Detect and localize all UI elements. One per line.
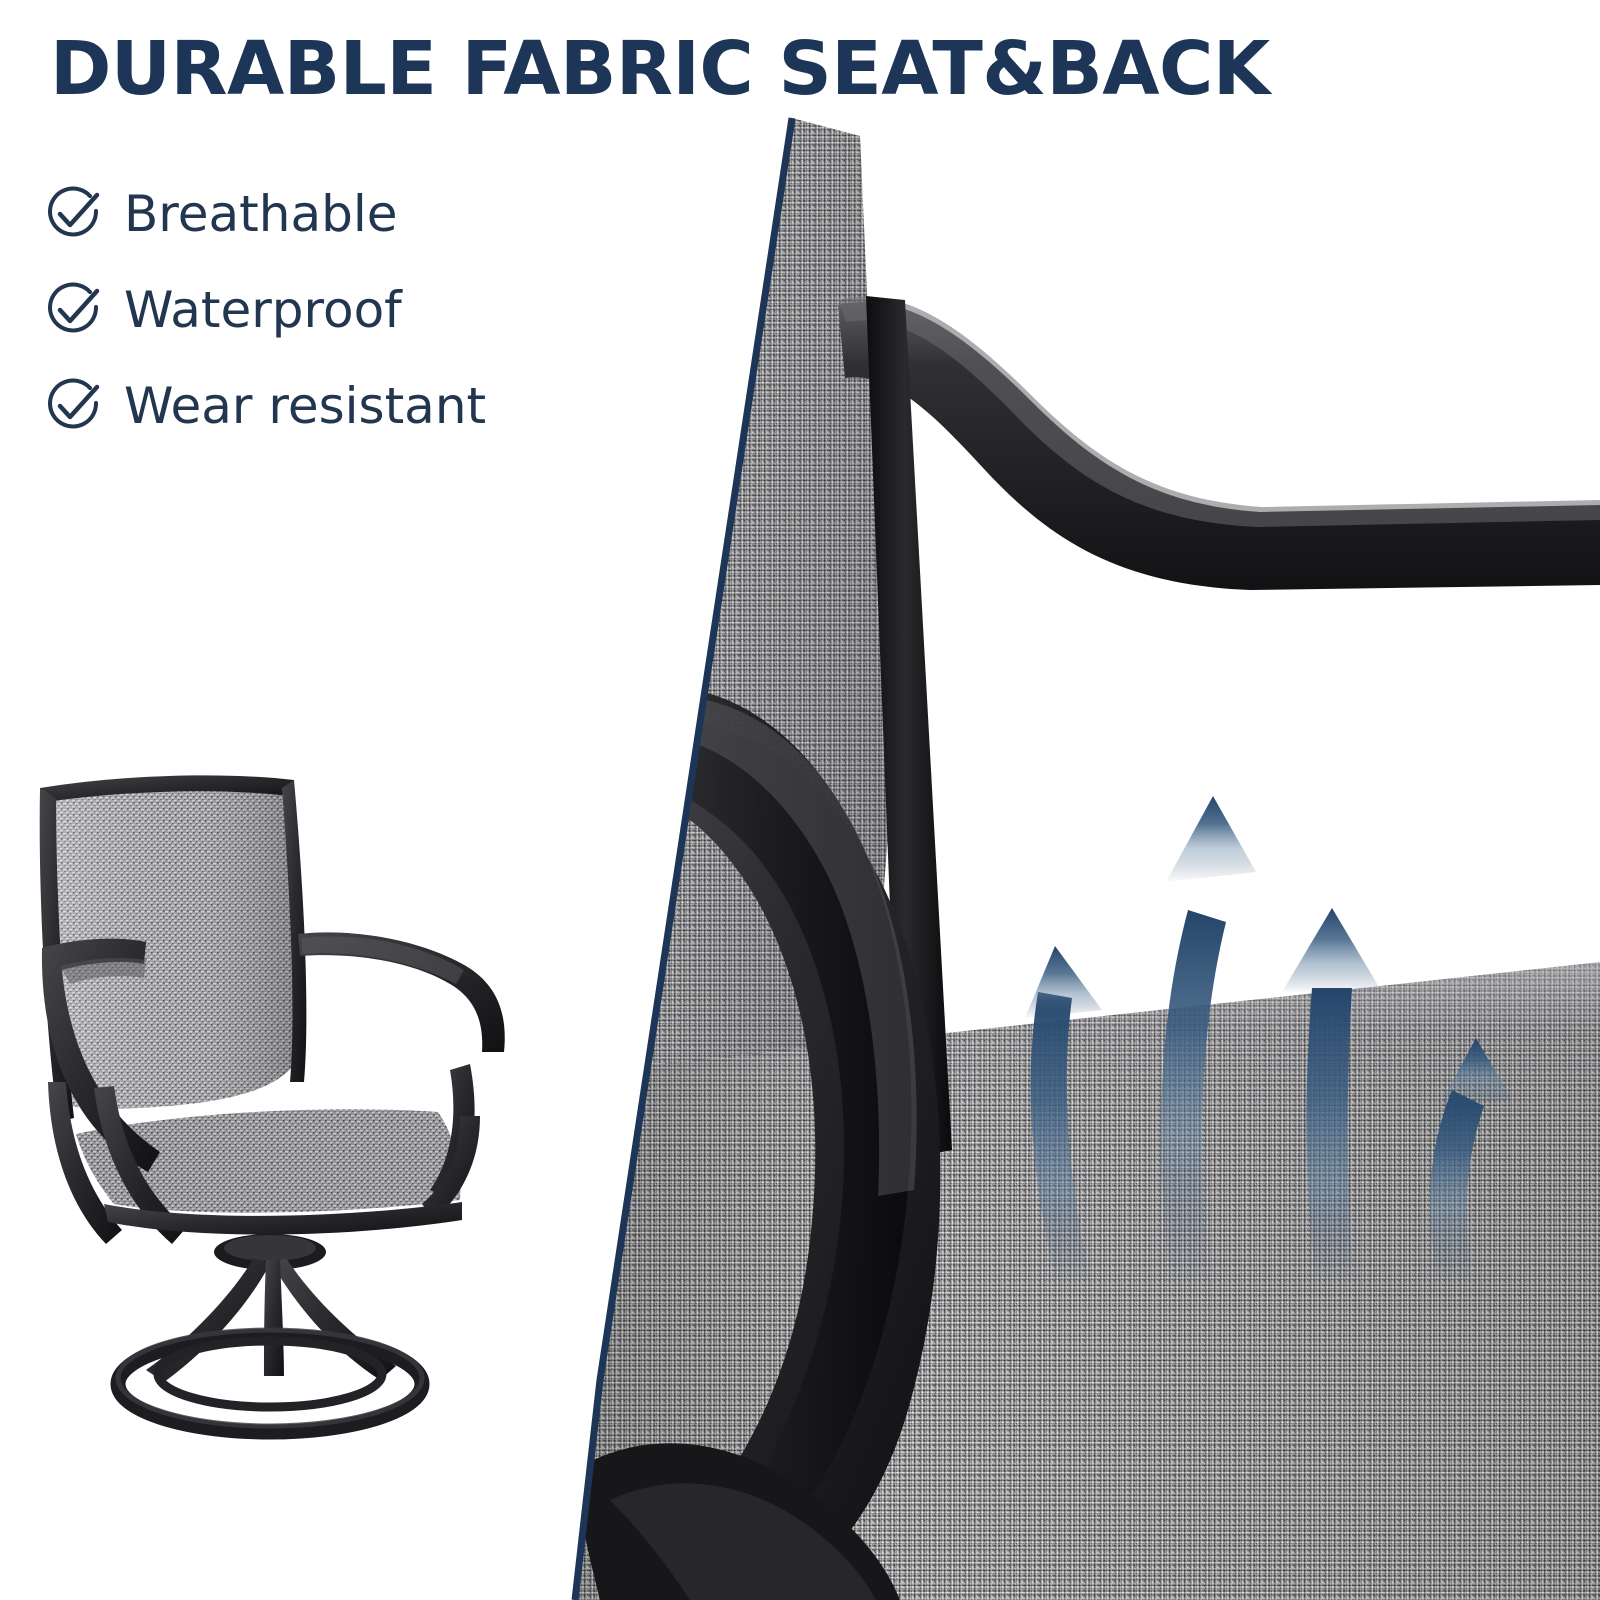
check-circle-icon: [42, 279, 104, 341]
feature-list: Breathable Waterproof Wear resistant: [42, 166, 582, 454]
feature-item-breathable: Breathable: [42, 166, 582, 262]
feature-label: Wear resistant: [124, 377, 486, 435]
page-title: DURABLE FABRIC SEAT&BACK: [50, 32, 1350, 106]
airflow-arrow-3: [1282, 908, 1382, 1280]
feature-item-wear-resistant: Wear resistant: [42, 358, 582, 454]
product-chair-image: [18, 752, 538, 1452]
feature-item-waterproof: Waterproof: [42, 262, 582, 358]
swivel-hub-top: [224, 1235, 316, 1261]
airflow-arrows: [960, 760, 1560, 1280]
check-circle-icon: [42, 375, 104, 437]
check-circle-icon: [42, 183, 104, 245]
feature-label: Breathable: [124, 185, 398, 243]
feature-label: Waterproof: [124, 281, 402, 339]
airflow-arrow-2: [1161, 796, 1256, 1280]
airflow-arrow-4: [1430, 1038, 1512, 1280]
airflow-arrow-1: [1025, 946, 1102, 1280]
